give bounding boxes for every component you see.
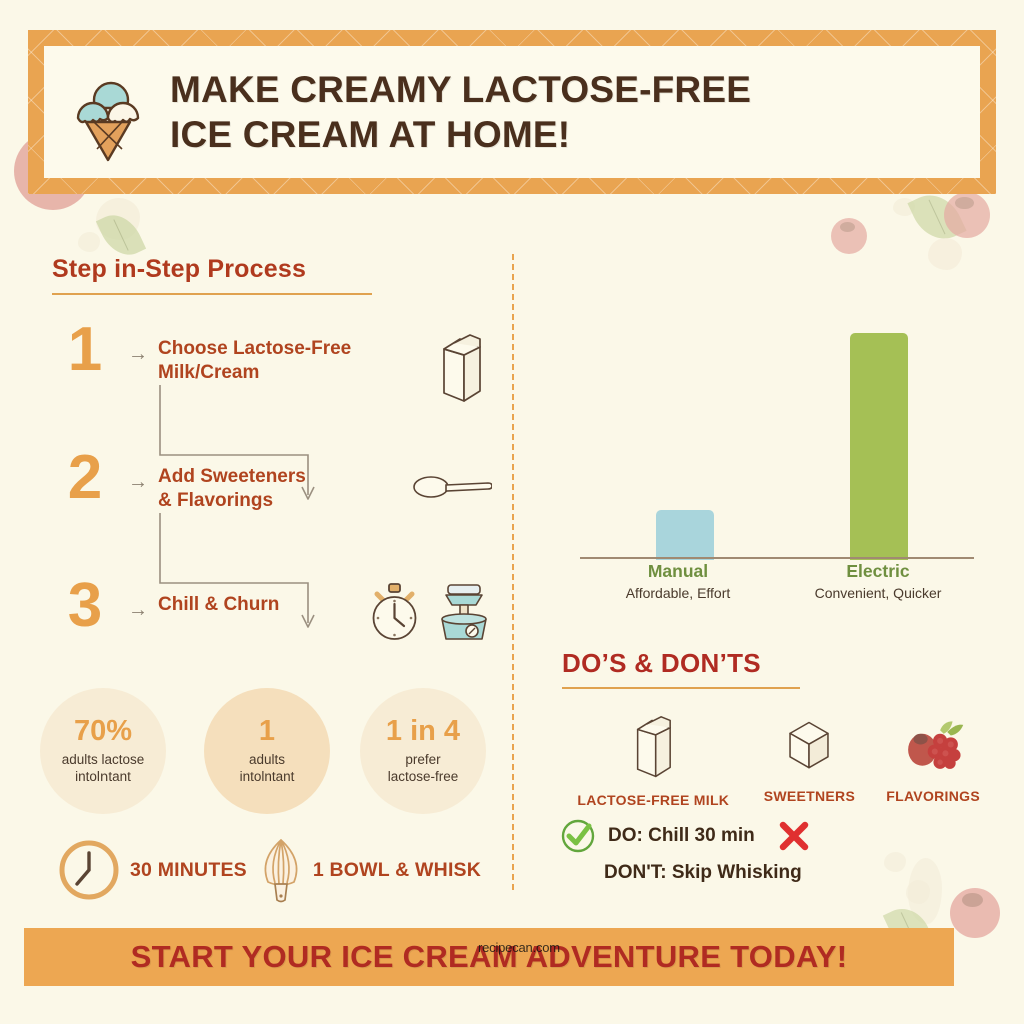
step-label: Choose Lactose-Free Milk/Cream [158,321,430,386]
dont-text: DON'T: Skip Whisking [604,862,802,883]
step-number: 2 [52,449,118,508]
sugar-cube-icon [781,715,837,777]
stat-value: 1 [259,717,275,746]
dd-caption: FLAVORINGS [874,788,992,804]
stat-label: adults intolntant [240,751,295,786]
milk-carton-icon [625,705,681,781]
stat-card[interactable]: 70% adults lactose intolոtant [40,688,166,814]
stat-value: 1 in 4 [386,717,460,746]
page-title: MAKE CREAMY LACTOSE-FREE ICE CREAM AT HO… [170,67,751,157]
bar-subtitle: Affordable, Effort [580,585,776,601]
bar-label-electric: Electric Convenient, Quicker [776,561,980,601]
dos-donts-underline [562,687,800,689]
stopwatch-and-churner-icon [366,577,492,643]
column-divider [512,254,514,890]
decorative-blob [96,198,140,240]
section-underline [52,293,372,295]
spoon-icon [412,449,492,510]
ice-cream-cone-icon [64,56,152,169]
stat-label-line2: lactose-free [388,769,459,784]
dos-donts-items: LACTOSE-FREE MILK SWEETNERS [562,705,992,808]
bar-electric[interactable] [850,333,908,560]
decorative-berry [944,192,990,238]
meta-row: 30 MINUTES 1 BOWL & WHISK [58,836,481,904]
arrow-right-icon: → [118,577,158,622]
decorative-leaf [907,185,966,248]
cross-icon [777,819,811,853]
check-circle-icon [560,818,596,854]
stat-card[interactable]: 1 in 4 prefer lactose-free [360,688,486,814]
stat-label-line2: intolntant [240,769,295,784]
step-label-line1: Add Sweeteners [158,466,306,487]
stat-label-line1: prefer [405,752,440,767]
bar-category-name: Electric [776,561,980,582]
bar-manual[interactable] [656,510,714,560]
clock-icon [58,839,120,901]
process-section-title: Step in-Step Process [52,255,492,284]
stat-card[interactable]: 1 adults intolntant [204,688,330,814]
stat-label-line2: intolոtant [75,769,131,784]
dos-donts-section: DO’S & DON’TS LACTOSE-FREE MILK [562,648,992,808]
steps-list: 1 → Choose Lactose-Free Milk/Cream [52,321,492,705]
stat-label: adults lactose intolոtant [62,751,145,786]
dd-item-flavorings[interactable]: FLAVORINGS [874,705,992,808]
decorative-berry [950,888,1000,938]
equipment-bar-chart [560,300,980,560]
chart-axis-line [580,557,974,559]
bar-subtitle: Convenient, Quicker [776,585,980,601]
meta-label-equipment: 1 BOWL & WHISK [313,859,481,882]
do-row[interactable]: DO: Chill 30 min [560,818,811,854]
header-frame: MAKE CREAMY LACTOSE-FREE ICE CREAM AT HO… [28,30,996,194]
dd-item-milk[interactable]: LACTOSE-FREE MILK [562,705,745,808]
decorative-blob [893,198,915,216]
stat-value: 70% [74,717,132,746]
stopwatch-icon [366,581,424,643]
dd-caption: LACTOSE-FREE MILK [562,792,745,808]
step-label-line1: Chill & Churn [158,594,279,615]
infographic-canvas: MAKE CREAMY LACTOSE-FREE ICE CREAM AT HO… [0,0,1024,1024]
dd-item-sweetners[interactable]: SWEETNERS [745,705,875,808]
dd-caption: SWEETNERS [745,788,875,804]
arrow-right-icon: → [118,321,158,366]
decorative-blob [78,232,100,252]
watermark: recipecan.com [478,940,560,955]
stats-group: 70% adults lactose intolոtant 1 adults i… [40,688,510,814]
stat-label: prefer lactose-free [388,751,459,786]
dont-row[interactable]: DON'T: Skip Whisking [604,862,802,884]
step-label: Add Sweeteners & Flavorings [158,449,412,514]
decorative-berry [831,218,867,254]
stat-label-line1: adults [249,752,285,767]
milk-carton-icon [430,321,492,410]
page-title-line2: ICE CREAM AT HOME! [170,112,751,157]
step-label-line2: & Flavorings [158,490,273,511]
bar-label-manual: Manual Affordable, Effort [580,561,776,601]
step-number: 3 [52,577,118,636]
step-label-line1: Choose Lactose-Free [158,338,351,359]
decorative-blob [906,880,930,904]
step-row[interactable]: 3 → Chill & Churn [52,577,492,705]
step-label: Chill & Churn [158,577,366,617]
decorative-blob [884,852,906,872]
step-number: 1 [52,321,118,380]
step-row[interactable]: 1 → Choose Lactose-Free Milk/Cream [52,321,492,449]
step-row[interactable]: 2 → Add Sweeteners & Flavorings [52,449,492,577]
meta-label-time: 30 MINUTES [130,859,247,882]
footer-banner: START YOUR ICE CREAM ADVENTURE TODAY! [24,928,954,986]
do-text: DO: Chill 30 min [608,825,755,847]
ice-cream-churner-icon [434,581,492,643]
decorative-blob [908,858,942,924]
raspberry-icon [901,719,965,777]
decorative-blob [928,238,962,270]
header-inner: MAKE CREAMY LACTOSE-FREE ICE CREAM AT HO… [44,46,980,178]
dos-donts-title: DO’S & DON’TS [562,648,992,679]
stat-label-line1: adults lactose [62,752,145,767]
bar-category-name: Manual [580,561,776,582]
step-label-line2: Milk/Cream [158,362,259,383]
page-title-line1: MAKE CREAMY LACTOSE-FREE [170,67,751,112]
arrow-right-icon: → [118,449,158,494]
whisk-icon [255,836,307,904]
process-column: Step in-Step Process 1 → [52,255,492,705]
